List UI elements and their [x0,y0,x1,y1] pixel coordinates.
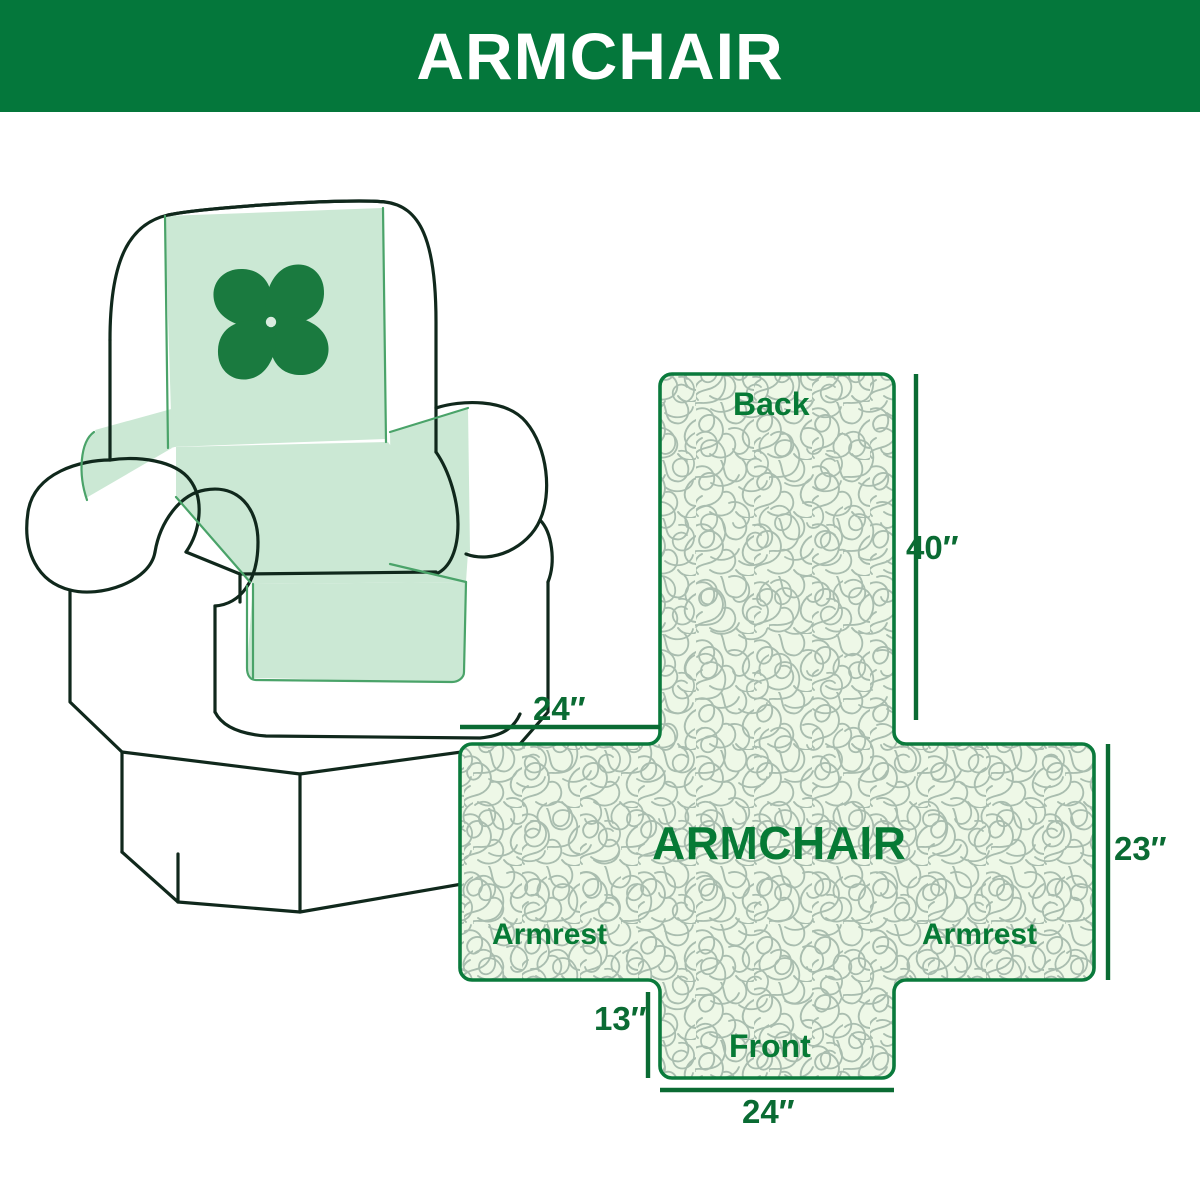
header-banner: ARMCHAIR [0,0,1200,112]
pattern-center-label: ARMCHAIR [652,820,906,866]
dimension-label-back-width: 24″ [533,692,586,725]
dimension-label-back-length: 40″ [906,531,959,564]
section-label-armrest-right: Armrest [922,920,1037,950]
section-label-armrest-left: Armrest [492,920,607,950]
quilted-pattern-fill [440,352,1120,1112]
dimension-label-armrest-depth: 23″ [1114,832,1167,865]
page-title: ARMCHAIR [416,23,783,89]
section-label-front: Front [729,1030,811,1062]
dimension-label-front-length: 13″ [594,1002,647,1035]
dimension-label-front-width: 24″ [742,1095,795,1128]
section-label-back: Back [733,388,810,420]
